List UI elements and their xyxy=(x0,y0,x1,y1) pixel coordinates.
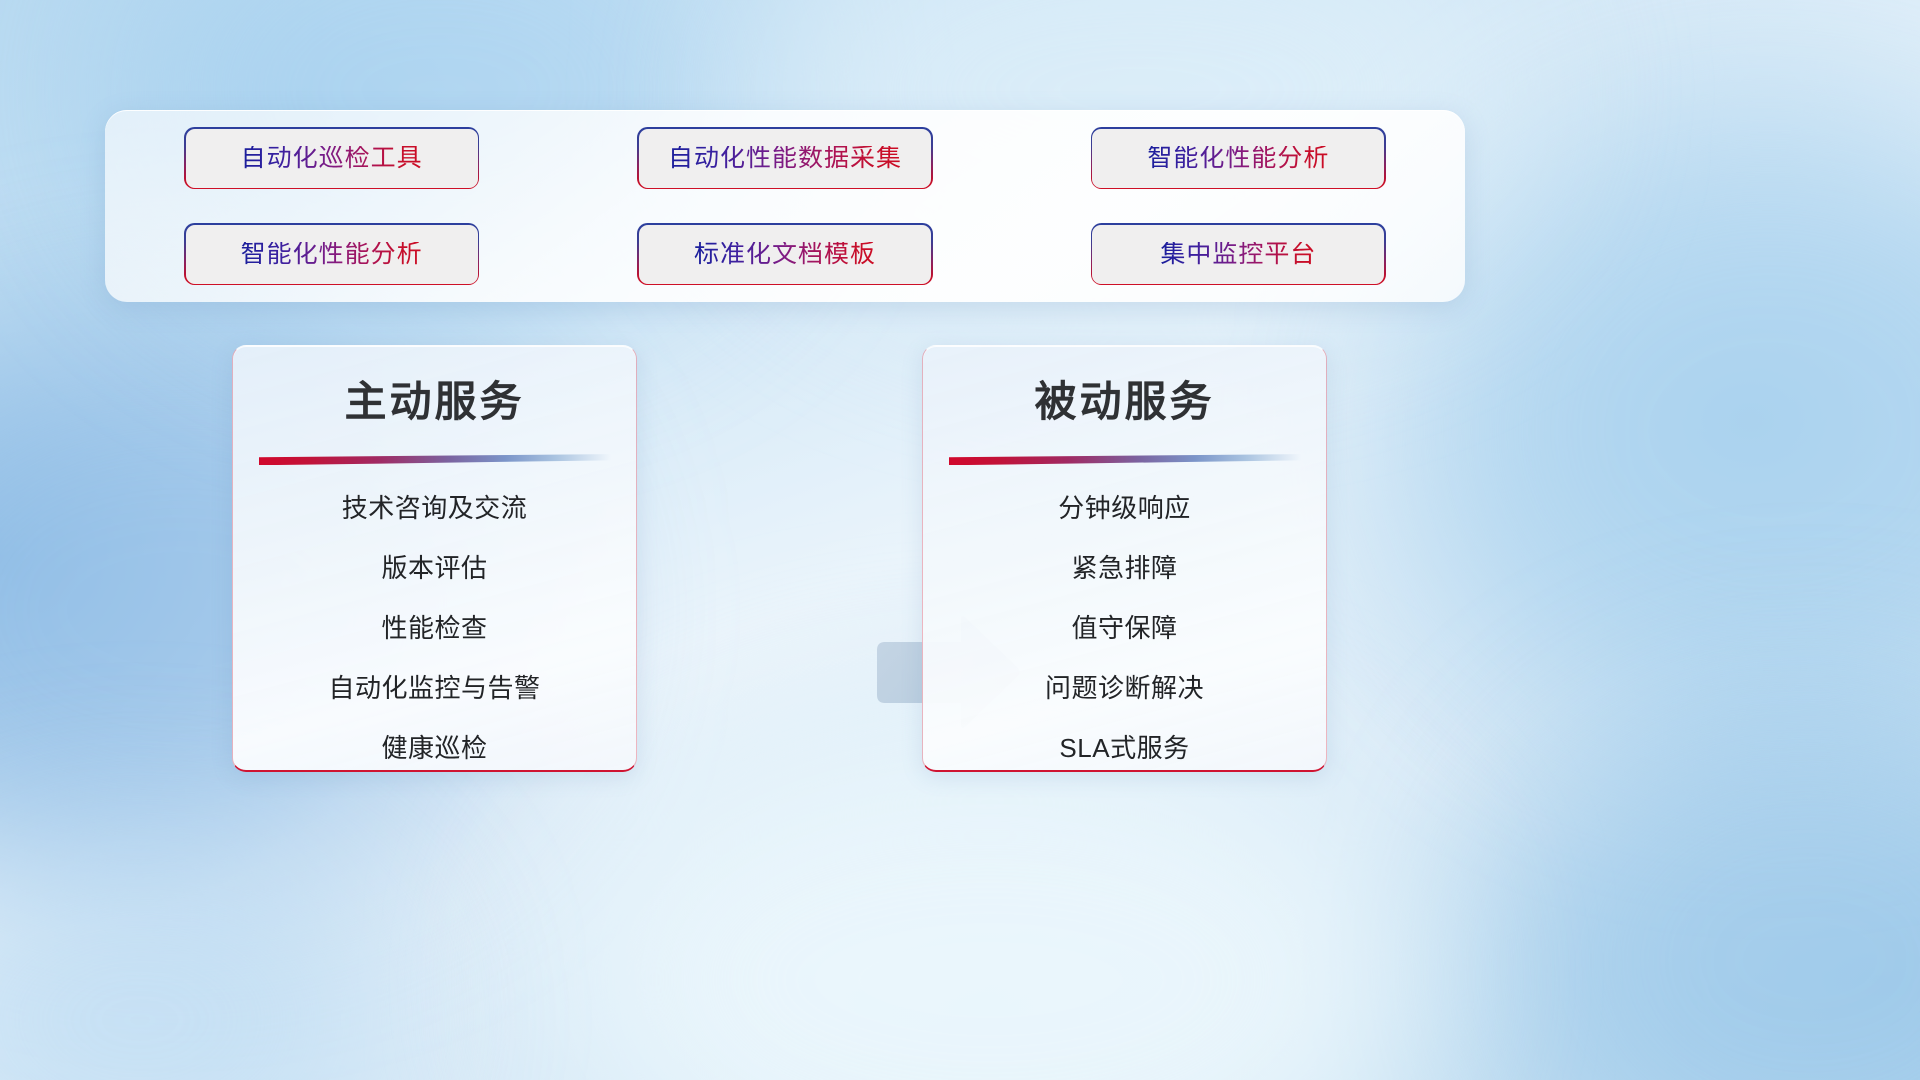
list-item: 版本评估 xyxy=(233,555,636,581)
list-item: 健康巡检 xyxy=(233,735,636,761)
background-blob xyxy=(0,840,400,1080)
slide-canvas: 自动化巡检工具 自动化性能数据采集 智能化性能分析 智能化性能分析 标准化文档模… xyxy=(0,0,1920,1080)
list-item: 问题诊断解决 xyxy=(923,675,1326,701)
service-list-passive: 分钟级响应 紧急排障 值守保障 问题诊断解决 SLA式服务 xyxy=(923,495,1326,761)
list-item: SLA式服务 xyxy=(923,735,1326,761)
capability-tag-intelligent-performance-analysis-2[interactable]: 智能化性能分析 xyxy=(186,225,478,284)
capability-tag-label: 自动化性能数据采集 xyxy=(668,146,902,171)
capability-tag-label: 集中监控平台 xyxy=(1160,242,1316,267)
capability-tag-centralized-monitoring-platform[interactable]: 集中监控平台 xyxy=(1092,225,1384,284)
service-card-passive: 被动服务 分钟级响应 紧急排障 值守保障 问题诊断解决 SLA式服务 xyxy=(922,345,1327,772)
card-divider xyxy=(949,452,1301,465)
list-item: 技术咨询及交流 xyxy=(233,495,636,521)
list-item: 分钟级响应 xyxy=(923,495,1326,521)
background-blob xyxy=(560,720,1420,1080)
card-divider-bar xyxy=(949,452,1301,465)
capability-tag-automated-inspection-tool[interactable]: 自动化巡检工具 xyxy=(186,129,478,188)
service-list-active: 技术咨询及交流 版本评估 性能检查 自动化监控与告警 健康巡检 xyxy=(233,495,636,761)
card-divider-bar xyxy=(259,452,611,465)
background-blob xyxy=(1500,700,1920,1080)
list-item: 紧急排障 xyxy=(923,555,1326,581)
list-item: 值守保障 xyxy=(923,615,1326,641)
capability-tag-label: 标准化文档模板 xyxy=(694,242,876,267)
card-title-passive: 被动服务 xyxy=(923,372,1326,426)
background-blob xyxy=(1420,120,1920,740)
service-card-active: 主动服务 技术咨询及交流 版本评估 性能检查 自动化监控与告警 健康巡检 xyxy=(232,345,637,772)
capability-tag-standardized-doc-template[interactable]: 标准化文档模板 xyxy=(639,225,931,284)
capability-tag-label: 智能化性能分析 xyxy=(1147,146,1329,171)
capability-tag-intelligent-performance-analysis-1[interactable]: 智能化性能分析 xyxy=(1092,129,1384,188)
capability-tag-label: 智能化性能分析 xyxy=(241,242,423,267)
card-title-active: 主动服务 xyxy=(233,372,636,426)
capability-tag-label: 自动化巡检工具 xyxy=(241,146,423,171)
capability-tags-panel: 自动化巡检工具 自动化性能数据采集 智能化性能分析 智能化性能分析 标准化文档模… xyxy=(105,110,1465,302)
list-item: 性能检查 xyxy=(233,615,636,641)
list-item: 自动化监控与告警 xyxy=(233,675,636,701)
capability-tag-automated-performance-data-collection[interactable]: 自动化性能数据采集 xyxy=(639,129,931,188)
card-divider xyxy=(259,452,611,465)
